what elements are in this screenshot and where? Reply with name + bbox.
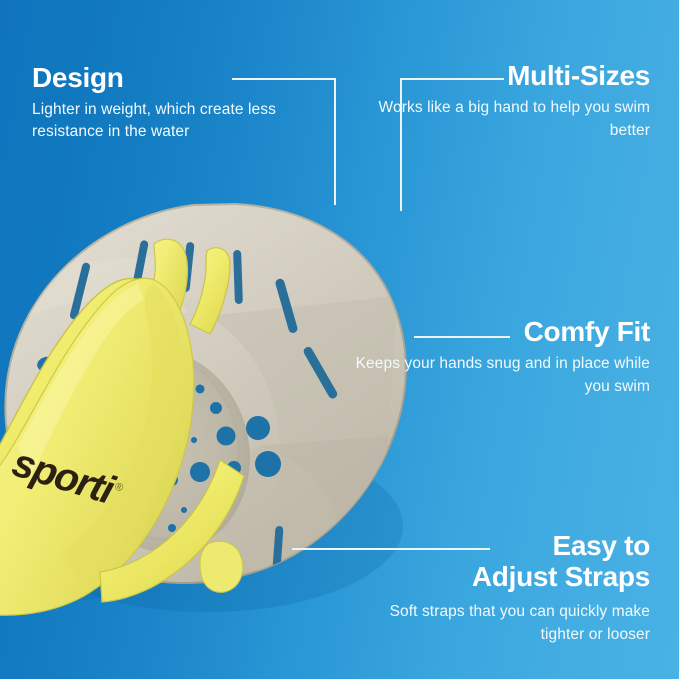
feature-title-multi-sizes: Multi-Sizes bbox=[350, 60, 650, 91]
feature-block-adjust-straps: Easy to Adjust Straps Soft straps that y… bbox=[350, 530, 650, 647]
connector-line-design-vertical bbox=[334, 78, 336, 205]
feature-description-comfy-fit: Keeps your hands snug and in place while… bbox=[350, 353, 650, 399]
feature-block-comfy-fit: Comfy Fit Keeps your hands snug and in p… bbox=[350, 316, 650, 399]
infographic-canvas: sporti ® Design Lighter in weight, which… bbox=[0, 0, 679, 679]
feature-block-design: Design Lighter in weight, which create l… bbox=[32, 62, 332, 143]
feature-block-multi-sizes: Multi-Sizes Works like a big hand to hel… bbox=[350, 60, 650, 143]
feature-title-comfy-fit: Comfy Fit bbox=[350, 316, 650, 347]
feature-description-multi-sizes: Works like a big hand to help you swim b… bbox=[350, 97, 650, 143]
feature-title-line1: Easy to bbox=[553, 530, 651, 561]
feature-title-line2: Adjust Straps bbox=[472, 561, 650, 592]
feature-title-design: Design bbox=[32, 62, 332, 93]
feature-description-design: Lighter in weight, which create less res… bbox=[32, 99, 332, 143]
feature-title-adjust-straps: Easy to Adjust Straps bbox=[350, 530, 650, 593]
feature-description-adjust-straps: Soft straps that you can quickly make ti… bbox=[350, 601, 650, 647]
